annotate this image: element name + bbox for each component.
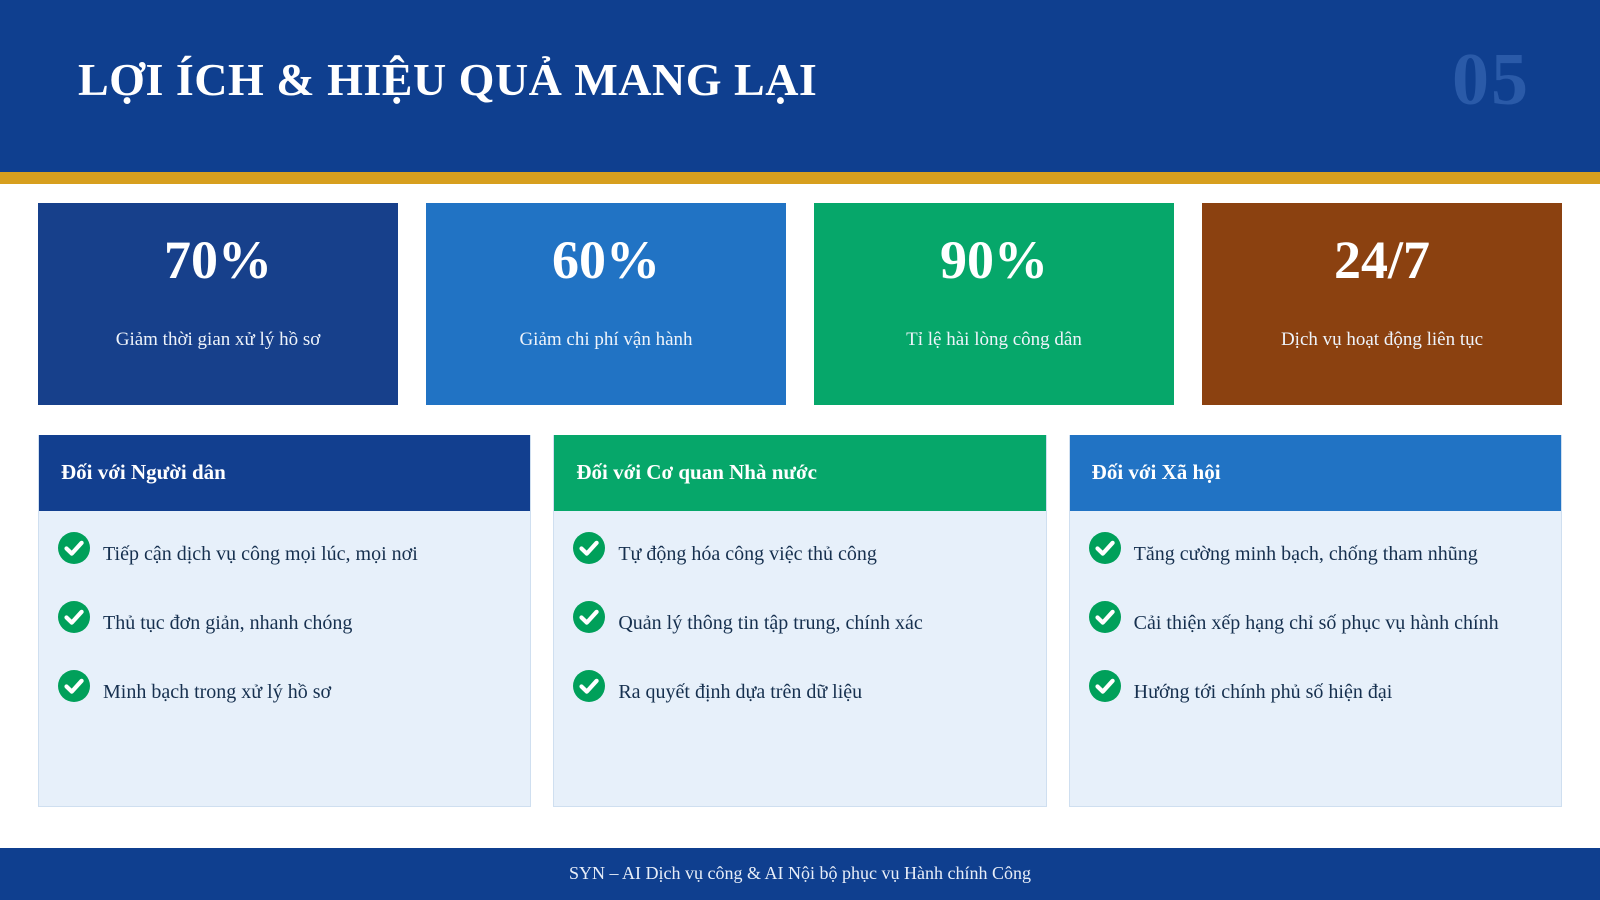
list-item: Ra quyết định dựa trên dữ liệu (572, 671, 1025, 706)
benefit-panel-2: Đối với Xã hội Tăng cường minh bạch, chố… (1069, 435, 1562, 807)
list-item: Thủ tục đơn giản, nhanh chóng (57, 602, 510, 637)
list-item-label: Cải thiện xếp hạng chỉ số phục vụ hành c… (1134, 602, 1499, 637)
stat-value: 90% (940, 231, 1048, 290)
list-item-label: Quản lý thông tin tập trung, chính xác (618, 602, 922, 637)
stat-card-0: 70% Giảm thời gian xử lý hồ sơ (38, 203, 398, 405)
panel-body-2: Tăng cường minh bạch, chống tham nhũng C… (1070, 511, 1561, 806)
benefit-panel-1: Đối với Cơ quan Nhà nước Tự động hóa côn… (553, 435, 1046, 807)
stat-card-2: 90% Tỉ lệ hài lòng công dân (814, 203, 1174, 405)
footer-label: SYN – AI Dịch vụ công & AI Nội bộ phục v… (569, 863, 1031, 885)
list-item: Tự động hóa công việc thủ công (572, 533, 1025, 568)
list-item-label: Tự động hóa công việc thủ công (618, 533, 877, 568)
panel-title: Đối với Người dân (61, 460, 226, 485)
stat-label: Giảm thời gian xử lý hồ sơ (104, 328, 333, 353)
slide-header: LỢI ÍCH & HIỆU QUẢ MANG LẠI 05 (0, 0, 1600, 172)
list-item-label: Tiếp cận dịch vụ công mọi lúc, mọi nơi (103, 533, 418, 568)
benefit-panels-row: Đối với Người dân Tiếp cận dịch vụ công … (38, 435, 1562, 807)
panel-header-2: Đối với Xã hội (1070, 435, 1561, 511)
stat-label: Giảm chi phí vận hành (507, 328, 704, 353)
list-item: Tăng cường minh bạch, chống tham nhũng (1088, 533, 1541, 568)
check-circle-icon (1088, 600, 1122, 634)
check-circle-icon (1088, 531, 1122, 565)
panel-title: Đối với Xã hội (1092, 460, 1221, 485)
check-circle-icon (572, 669, 606, 703)
check-circle-icon (57, 600, 91, 634)
stat-card-1: 60% Giảm chi phí vận hành (426, 203, 786, 405)
check-circle-icon (572, 600, 606, 634)
stat-value: 60% (552, 231, 660, 290)
stat-card-3: 24/7 Dịch vụ hoạt động liên tục (1202, 203, 1562, 405)
list-item-label: Thủ tục đơn giản, nhanh chóng (103, 602, 352, 637)
panel-body-1: Tự động hóa công việc thủ công Quản lý t… (554, 511, 1045, 806)
gold-accent-divider (0, 172, 1600, 184)
check-circle-icon (1088, 669, 1122, 703)
list-item-label: Hướng tới chính phủ số hiện đại (1134, 671, 1393, 706)
list-item-label: Tăng cường minh bạch, chống tham nhũng (1134, 533, 1478, 568)
stat-label: Dịch vụ hoạt động liên tục (1269, 328, 1495, 353)
stat-cards-row: 70% Giảm thời gian xử lý hồ sơ 60% Giảm … (38, 203, 1562, 405)
panel-title: Đối với Cơ quan Nhà nước (576, 460, 817, 485)
panel-header-1: Đối với Cơ quan Nhà nước (554, 435, 1045, 511)
check-circle-icon (57, 531, 91, 565)
panel-body-0: Tiếp cận dịch vụ công mọi lúc, mọi nơi T… (39, 511, 530, 806)
panel-header-0: Đối với Người dân (39, 435, 530, 511)
list-item: Cải thiện xếp hạng chỉ số phục vụ hành c… (1088, 602, 1541, 637)
section-number-watermark: 05 (1452, 36, 1530, 125)
list-item: Quản lý thông tin tập trung, chính xác (572, 602, 1025, 637)
stat-value: 24/7 (1334, 231, 1430, 290)
list-item-label: Ra quyết định dựa trên dữ liệu (618, 671, 862, 706)
stat-label: Tỉ lệ hài lòng công dân (894, 328, 1094, 353)
check-circle-icon (57, 669, 91, 703)
page-title: LỢI ÍCH & HIỆU QUẢ MANG LẠI (78, 52, 817, 107)
list-item-label: Minh bạch trong xử lý hồ sơ (103, 671, 331, 706)
list-item: Hướng tới chính phủ số hiện đại (1088, 671, 1541, 706)
stat-value: 70% (164, 231, 272, 290)
benefit-panel-0: Đối với Người dân Tiếp cận dịch vụ công … (38, 435, 531, 807)
slide-footer: SYN – AI Dịch vụ công & AI Nội bộ phục v… (0, 848, 1600, 900)
check-circle-icon (572, 531, 606, 565)
list-item: Minh bạch trong xử lý hồ sơ (57, 671, 510, 706)
list-item: Tiếp cận dịch vụ công mọi lúc, mọi nơi (57, 533, 510, 568)
